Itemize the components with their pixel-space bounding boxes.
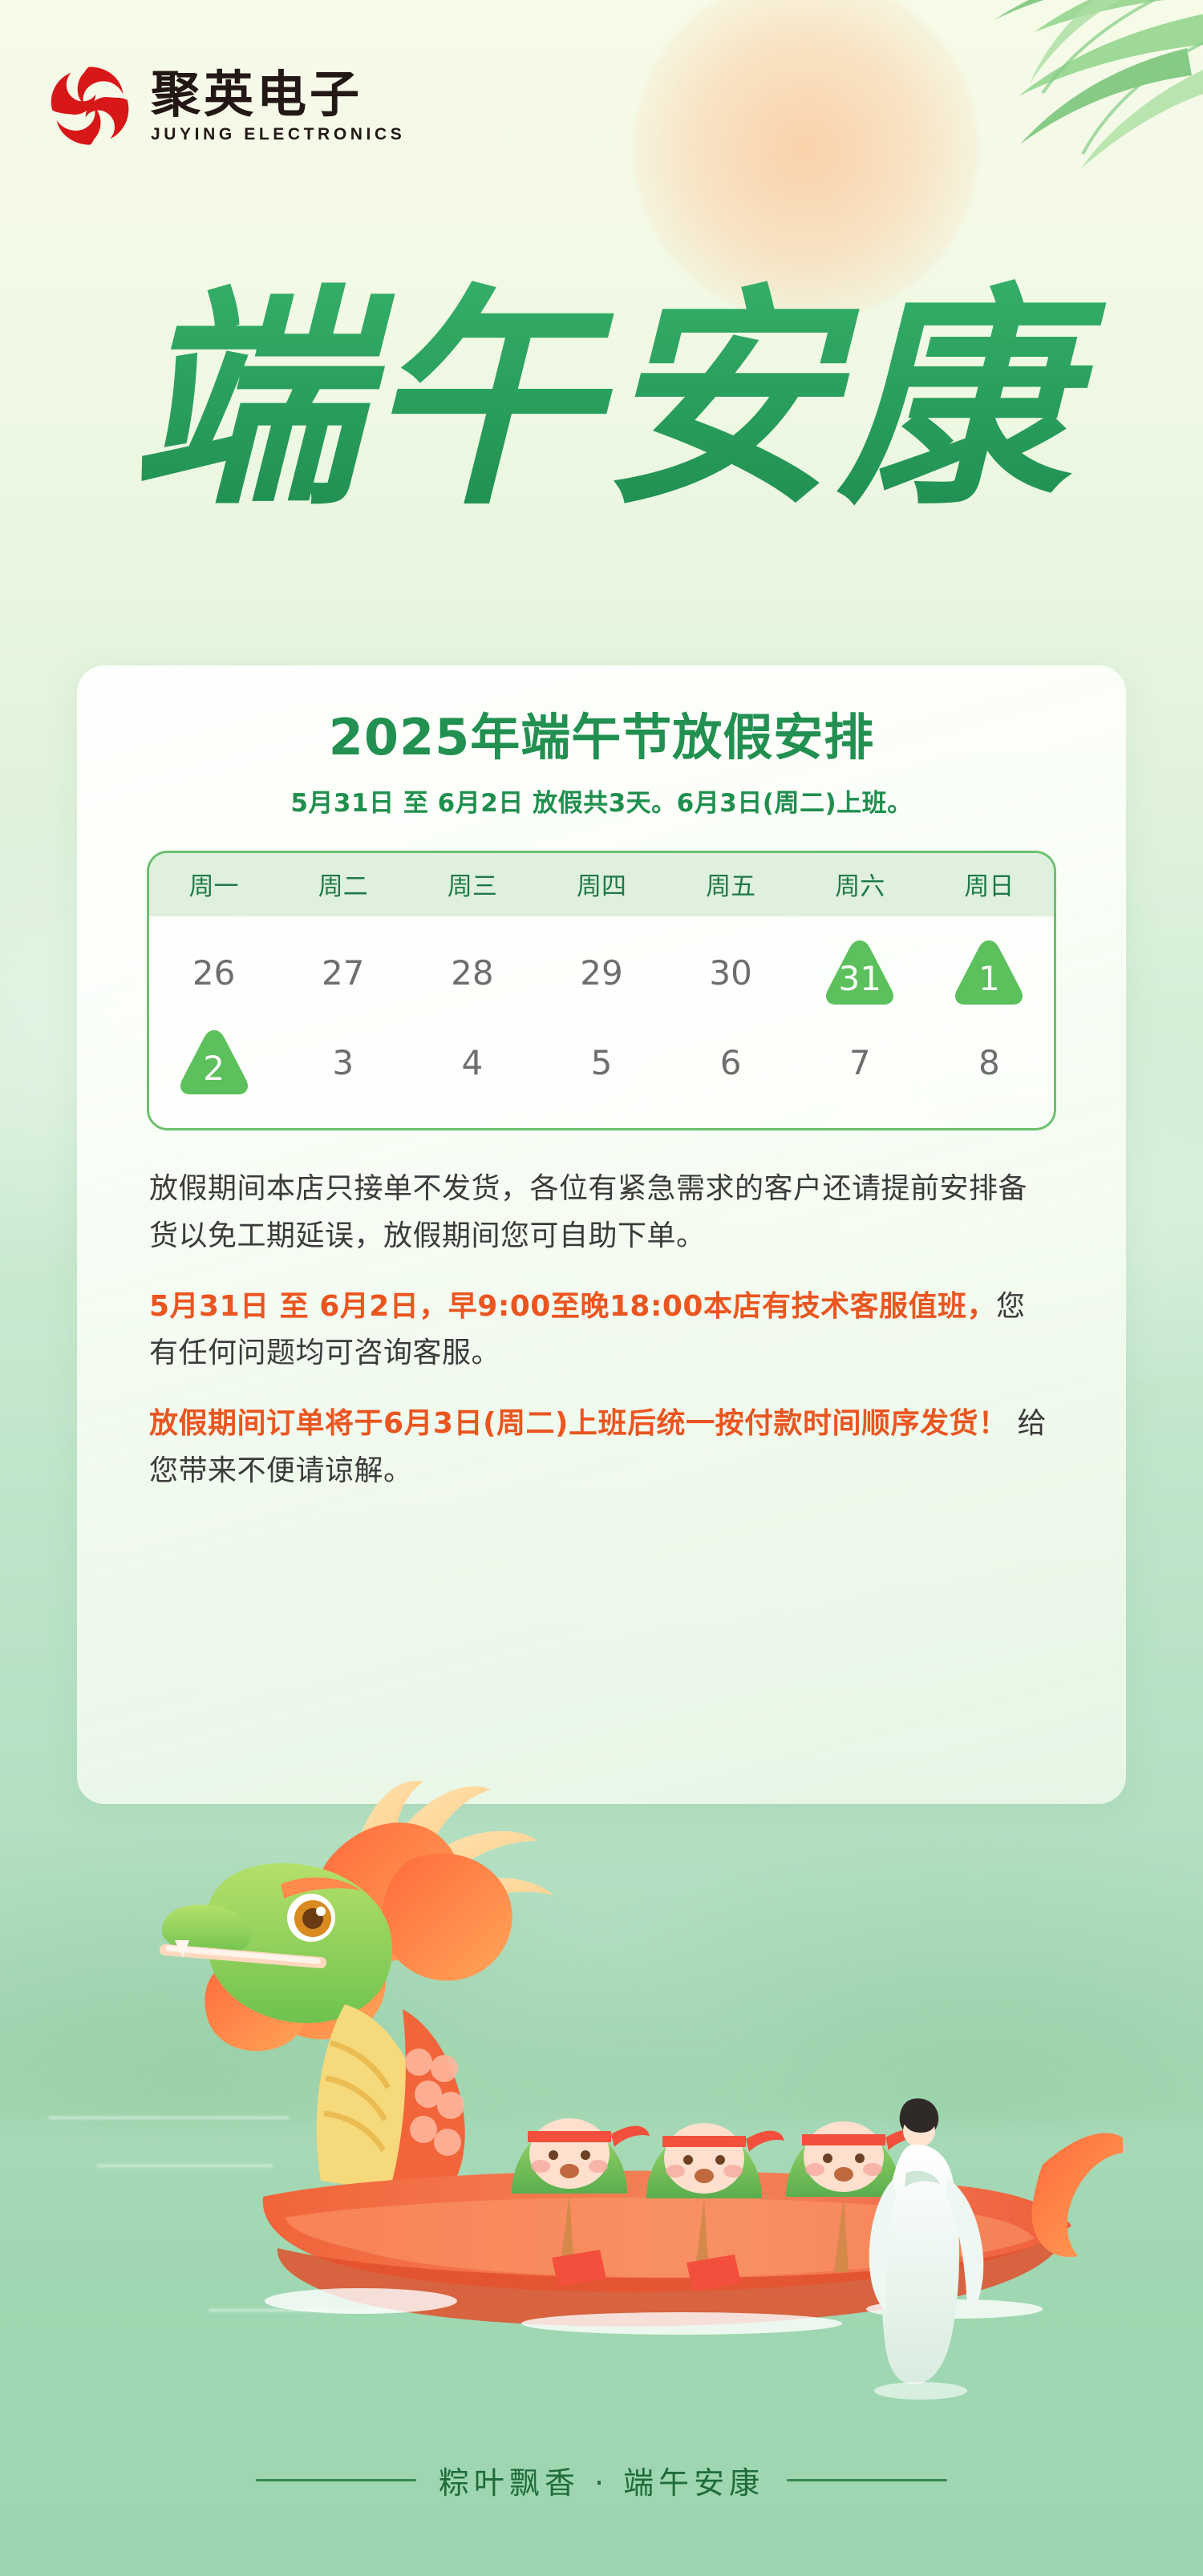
day-number: 6 — [720, 1043, 742, 1082]
calendar-day[interactable]: 28 — [407, 928, 537, 1017]
weekday-sun: 周日 — [925, 866, 1054, 902]
holiday-calendar: 周一 周二 周三 周四 周五 周六 周日 26 27 28 29 30 — [147, 851, 1056, 1130]
weekday-tue: 周二 — [278, 866, 407, 902]
day-number: 30 — [709, 953, 751, 993]
zongzi-badge: 1 — [952, 937, 1026, 1008]
calendar-day-holiday[interactable]: 1 — [925, 928, 1054, 1017]
notice-card: 2025年端午节放假安排 5月31日 至 6月2日 放假共3天。6月3日(周二)… — [77, 665, 1126, 1804]
weekday-sat: 周六 — [796, 866, 925, 902]
day-number: 29 — [580, 953, 622, 993]
calendar-row: 2 3 4 5 6 7 8 — [149, 1017, 1054, 1107]
footer: 粽叶飘香 · 端午安康 — [0, 2458, 1203, 2502]
day-number: 5 — [591, 1043, 613, 1082]
calendar-day[interactable]: 5 — [537, 1017, 666, 1107]
calendar-day[interactable]: 3 — [278, 1017, 407, 1107]
day-number: 1 — [978, 959, 1000, 998]
day-number: 31 — [839, 959, 881, 998]
calendar-day[interactable]: 30 — [666, 928, 796, 1017]
calendar-day[interactable]: 29 — [537, 928, 666, 1017]
lady-in-white-illustration-icon — [826, 2085, 1011, 2405]
weekday-fri: 周五 — [666, 866, 796, 902]
weekday-wed: 周三 — [407, 866, 537, 902]
card-title: 2025年端午节放假安排 — [77, 710, 1126, 765]
calendar-weekday-header: 周一 周二 周三 周四 周五 周六 周日 — [149, 853, 1054, 916]
notice-body: 放假期间本店只接单不发货，各位有紧急需求的客户还请提前安排备货以免工期延误，放假… — [149, 1166, 1054, 1494]
day-number: 27 — [322, 953, 364, 993]
brand-logo: 聚英电子 JUYING ELECTRONICS — [47, 63, 405, 149]
calendar-day-holiday[interactable]: 31 — [796, 928, 925, 1017]
notice-paragraph-1: 放假期间本店只接单不发货，各位有紧急需求的客户还请提前安排备货以免工期延误，放假… — [149, 1166, 1054, 1260]
brand-name-en: JUYING ELECTRONICS — [151, 126, 405, 143]
hero-title-text: 端午安康 — [130, 264, 1110, 536]
zongzi-badge: 2 — [177, 1027, 251, 1098]
footer-divider-right — [787, 2479, 947, 2481]
day-number: 3 — [332, 1043, 354, 1082]
notice-paragraph-3: 放假期间订单将于6月3日(周二)上班后统一按付款时间顺序发货！ 给您带来不便请谅… — [149, 1401, 1054, 1494]
calendar-day[interactable]: 4 — [407, 1017, 537, 1107]
zongzi-badge: 31 — [823, 937, 897, 1008]
footer-divider-left — [256, 2479, 416, 2481]
day-number: 2 — [203, 1049, 225, 1088]
calendar-day[interactable]: 27 — [278, 928, 407, 1017]
calendar-day[interactable]: 8 — [925, 1017, 1054, 1107]
calendar-day[interactable]: 7 — [796, 1017, 925, 1107]
calendar-row: 26 27 28 29 30 31 — [149, 928, 1054, 1017]
notice-paragraph-2-highlight: 5月31日 至 6月2日，早9:00至晚18:00本店有技术客服值班， — [149, 1290, 996, 1323]
poster-root: 聚英电子 JUYING ELECTRONICS 端午安康 2025年端午节放假安… — [0, 0, 1203, 2576]
bamboo-leaves-icon — [738, 0, 1203, 241]
notice-paragraph-2: 5月31日 至 6月2日，早9:00至晚18:00本店有技术客服值班，您有任何问… — [149, 1284, 1054, 1377]
brand-name-cn: 聚英电子 — [151, 70, 405, 119]
card-subtitle: 5月31日 至 6月2日 放假共3天。6月3日(周二)上班。 — [77, 783, 1126, 819]
day-number: 7 — [849, 1043, 871, 1082]
calendar-body: 26 27 28 29 30 31 — [149, 916, 1054, 1128]
weekday-thu: 周四 — [537, 866, 666, 902]
footer-text: 粽叶飘香 · 端午安康 — [439, 2458, 764, 2502]
day-number: 26 — [192, 953, 235, 993]
calendar-day[interactable]: 6 — [666, 1017, 796, 1107]
hero-title: 端午安康 — [0, 241, 1203, 561]
calendar-day[interactable]: 26 — [149, 928, 278, 1017]
day-number: 4 — [461, 1043, 483, 1082]
notice-paragraph-3-highlight: 放假期间订单将于6月3日(周二)上班后统一按付款时间顺序发货！ — [149, 1407, 1008, 1440]
calendar-day-holiday[interactable]: 2 — [149, 1017, 278, 1107]
juying-flower-logo-icon — [47, 63, 133, 149]
weekday-mon: 周一 — [149, 866, 278, 902]
day-number: 8 — [978, 1043, 1000, 1082]
day-number: 28 — [451, 953, 493, 993]
